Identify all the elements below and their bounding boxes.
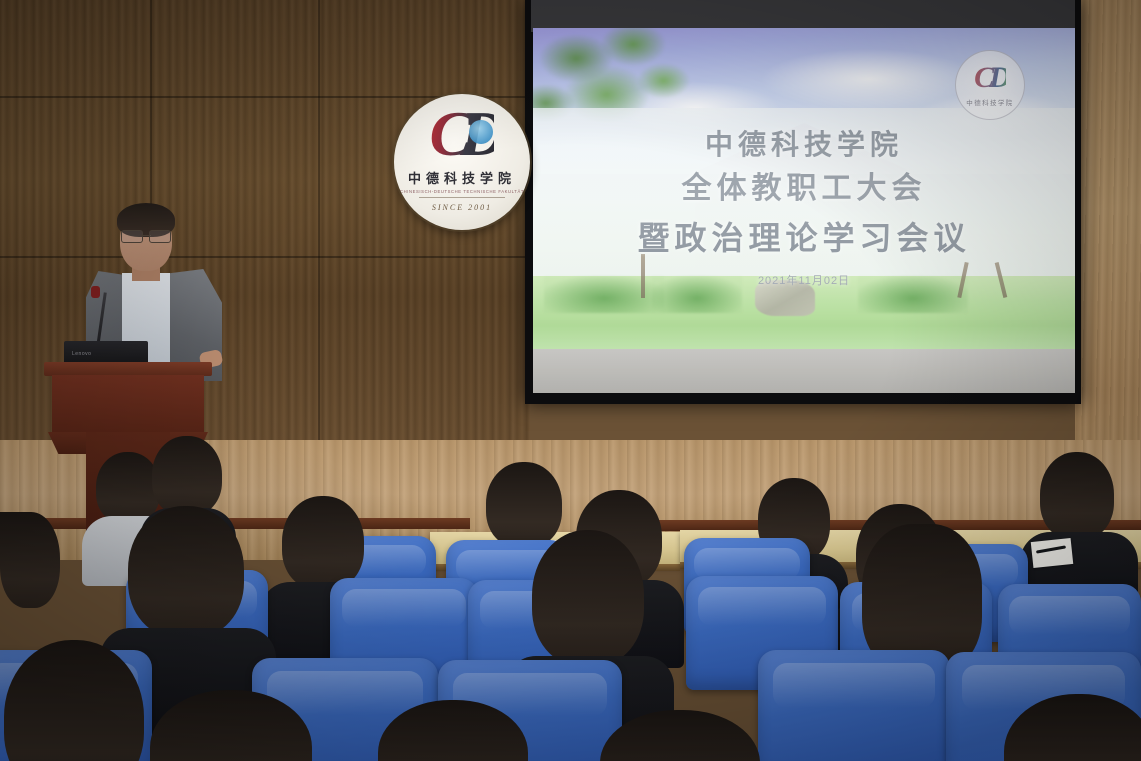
attendee-head [0,512,60,608]
slide-title-line-1: 中德科技学院 [533,124,1075,166]
auditorium-photo: CD 中德科技学院 中德科技学院 全体教职工大会 暨政治理论学习会议 2021年… [0,0,1141,761]
podium-front-panel [52,375,204,433]
podium-top [44,362,212,376]
attendee-head [1040,452,1114,540]
slide-date: 2021年11月02日 [533,272,1075,288]
speaker-glasses-icon [121,230,171,241]
emblem-divider [419,197,505,198]
slide-bottom-band [533,349,1075,393]
projected-slide: CD 中德科技学院 中德科技学院 全体教职工大会 暨政治理论学习会议 2021年… [533,28,1075,393]
emblem-globe-icon [469,120,493,144]
slide-logo-monogram: CD [974,63,1006,93]
laptop-brand-label: Lenovo [72,351,91,357]
slide-text-block: 中德科技学院 全体教职工大会 暨政治理论学习会议 2021年11月02日 [533,124,1075,288]
attendee-head [282,496,364,590]
attendee-head [152,436,222,516]
slide-logo: CD 中德科技学院 [955,50,1025,120]
attendee-head [486,462,562,548]
slide-title-line-2: 全体教职工大会 [533,166,1075,212]
microphone-head [91,286,100,298]
emblem-german-line: CHINESISCH-DEUTSCHE TECHNISCHE FAKULTÄT [400,189,524,194]
attendee-head [96,452,160,524]
slide-title-line-3: 暨政治理论学习会议 [533,212,1075,264]
emblem-chinese-name: 中德科技学院 [408,168,516,187]
attendee-head [128,506,244,638]
slide-logo-chinese-name: 中德科技学院 [966,97,1013,107]
emblem-since: SINCE 2001 [432,203,492,212]
wall-emblem: CD 中德科技学院 CHINESISCH-DEUTSCHE TECHNISCHE… [394,94,530,230]
attendee-head [532,530,644,666]
seat[interactable] [758,650,950,761]
podium-shoulder-left [48,432,88,454]
